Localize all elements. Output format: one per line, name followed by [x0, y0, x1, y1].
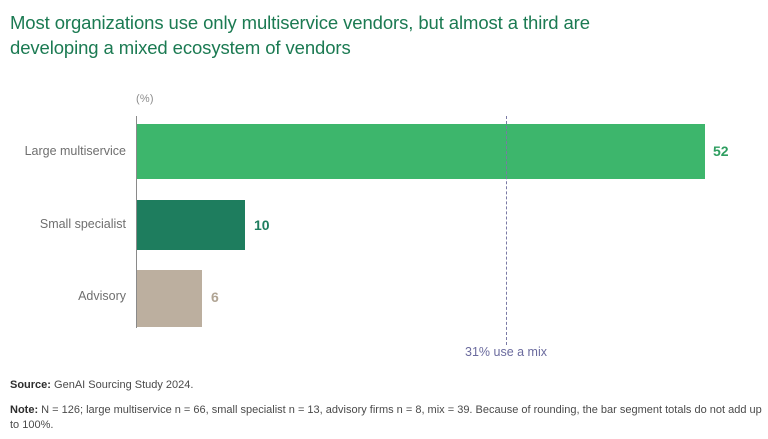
bar-small-specialist[interactable]	[137, 200, 245, 250]
axis-unit-label: (%)	[136, 93, 154, 105]
source-note: Source: GenAI Sourcing Study 2024.	[10, 378, 762, 393]
source-text: GenAI Sourcing Study 2024.	[51, 379, 193, 391]
note: Note: N = 126; large multiservice n = 66…	[10, 403, 762, 433]
category-label-advisory: Advisory	[0, 289, 126, 303]
reference-line-label-mix: 31% use a mix	[465, 345, 547, 359]
bar-chart: (%) Large multiservice Small specialist …	[0, 0, 768, 370]
bar-large-multiservice[interactable]	[137, 124, 705, 179]
reference-line-mix	[506, 116, 507, 345]
bar-advisory[interactable]	[137, 270, 202, 327]
note-label: Note:	[10, 404, 38, 416]
bar-value-large-multiservice: 52	[713, 143, 729, 159]
category-label-large-multiservice: Large multiservice	[0, 144, 126, 158]
source-label: Source:	[10, 379, 51, 391]
category-label-small-specialist: Small specialist	[0, 217, 126, 231]
note-text: N = 126; large multiservice n = 66, smal…	[10, 404, 762, 431]
footnotes: Source: GenAI Sourcing Study 2024. Note:…	[10, 378, 762, 433]
bar-value-small-specialist: 10	[254, 217, 270, 233]
bar-value-advisory: 6	[211, 289, 219, 305]
